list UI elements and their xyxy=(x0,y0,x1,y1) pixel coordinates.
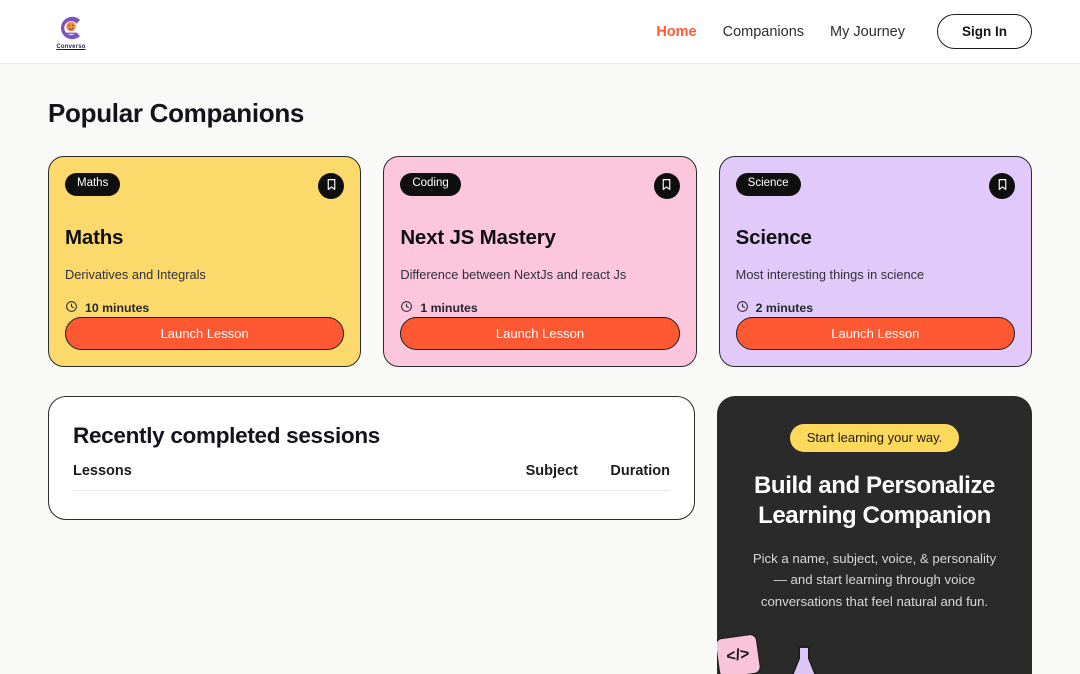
nav-link-companions[interactable]: Companions xyxy=(723,24,804,40)
launch-lesson-button[interactable]: Launch Lesson xyxy=(65,317,344,350)
clock-icon xyxy=(400,300,413,316)
table-header-row: Lessons Subject Duration xyxy=(73,463,670,491)
column-header-subject[interactable]: Subject xyxy=(438,463,578,491)
companion-title: Science xyxy=(736,226,1015,250)
bookmark-icon xyxy=(325,178,338,194)
code-brackets-icon: </> xyxy=(717,633,762,674)
companion-card-next-js-mastery[interactable]: Coding Next JS Mastery Difference betwee… xyxy=(383,156,696,367)
subject-badge: Science xyxy=(736,173,801,196)
clock-icon xyxy=(65,300,78,316)
sign-in-button[interactable]: Sign In xyxy=(937,14,1032,49)
duration-text: 1 minutes xyxy=(420,301,477,315)
bookmark-button[interactable] xyxy=(989,173,1015,199)
companion-duration: 2 minutes xyxy=(736,300,1015,316)
page-title: Popular Companions xyxy=(48,98,1032,129)
recent-sessions-card: Recently completed sessions Lessons Subj… xyxy=(48,396,695,520)
page-content: Popular Companions Maths Maths Derivativ… xyxy=(0,64,1080,674)
code-brackets-label: </> xyxy=(725,645,750,666)
clock-icon xyxy=(736,300,749,316)
duration-text: 10 minutes xyxy=(85,301,149,315)
launch-lesson-button[interactable]: Launch Lesson xyxy=(400,317,679,350)
recent-sessions-table: Lessons Subject Duration xyxy=(73,463,670,491)
recent-sessions-title: Recently completed sessions xyxy=(73,423,670,449)
bookmark-icon xyxy=(996,178,1009,194)
cta-badge: Start learning your way. xyxy=(790,424,960,452)
cta-heading-line-1: Build and Personalize xyxy=(754,472,995,499)
bookmark-button[interactable] xyxy=(318,173,344,199)
cta-card: Start learning your way. Build and Perso… xyxy=(717,396,1032,674)
companion-topic: Derivatives and Integrals xyxy=(65,267,344,282)
bookmark-button[interactable] xyxy=(654,173,680,199)
nav-link-my-journey[interactable]: My Journey xyxy=(830,24,905,40)
companion-topic: Most interesting things in science xyxy=(736,267,1015,282)
column-header-duration[interactable]: Duration xyxy=(578,463,670,491)
brand-logo[interactable]: Converso xyxy=(48,13,94,50)
companion-title: Maths xyxy=(65,226,344,250)
companion-card-science[interactable]: Science Science Most interesting things … xyxy=(719,156,1032,367)
card-header: Science xyxy=(736,173,1015,199)
subject-badge: Maths xyxy=(65,173,120,196)
companion-card-maths[interactable]: Maths Maths Derivatives and Integrals xyxy=(48,156,361,367)
card-header: Maths xyxy=(65,173,344,199)
cta-heading: Build and Personalize Learning Companion xyxy=(741,471,1008,531)
cta-heading-line-2: Learning Companion xyxy=(758,502,991,529)
launch-lesson-button[interactable]: Launch Lesson xyxy=(736,317,1015,350)
card-header: Coding xyxy=(400,173,679,199)
cta-decorative-icons: </> xyxy=(717,636,1032,674)
companion-duration: 10 minutes xyxy=(65,300,344,316)
nav-link-home[interactable]: Home xyxy=(656,24,696,40)
subject-badge: Coding xyxy=(400,173,460,196)
converso-c-logo-icon xyxy=(56,13,86,43)
duration-text: 2 minutes xyxy=(756,301,813,315)
popular-companions-grid: Maths Maths Derivatives and Integrals xyxy=(48,156,1032,367)
companion-title: Next JS Mastery xyxy=(400,226,679,250)
companion-topic: Difference between NextJs and react Js xyxy=(400,267,679,282)
bookmark-icon xyxy=(660,178,673,194)
brand-name: Converso xyxy=(56,44,85,50)
primary-navigation: Home Companions My Journey Sign In xyxy=(656,14,1032,49)
column-header-lessons[interactable]: Lessons xyxy=(73,463,438,491)
flask-icon xyxy=(785,643,823,674)
site-header: Converso Home Companions My Journey Sign… xyxy=(0,0,1080,64)
companion-duration: 1 minutes xyxy=(400,300,679,316)
cta-body-text: Pick a name, subject, voice, & personali… xyxy=(741,548,1008,612)
bottom-row: Recently completed sessions Lessons Subj… xyxy=(48,396,1032,674)
